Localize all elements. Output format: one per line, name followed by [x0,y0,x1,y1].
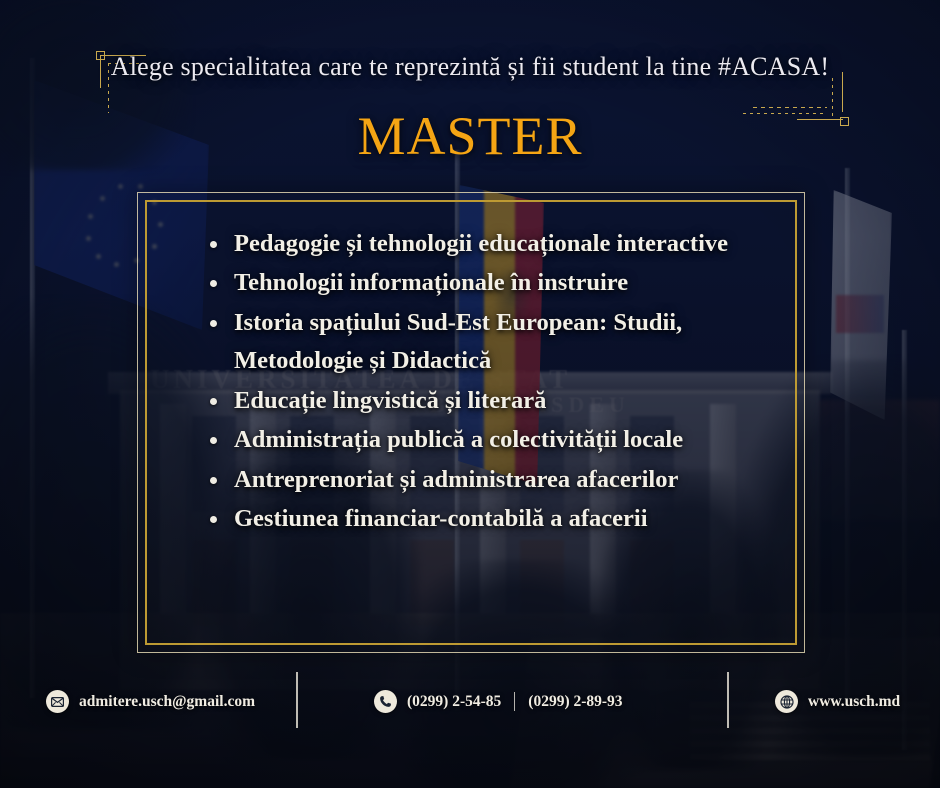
poster-content: Alege specialitatea care te reprezintă ș… [0,0,940,788]
globe-icon [775,690,798,713]
contact-phone[interactable]: (0299) 2-54-85 (0299) 2-89-93 [374,690,623,713]
phone-separator [514,692,515,711]
contact-website[interactable]: www.usch.md [775,690,900,713]
footer-contact-bar: admitere.usch@gmail.com (0299) 2-54-85 (… [0,676,940,736]
phone-number-2: (0299) 2-89-93 [528,693,622,711]
list-item: Educație lingvistică și literară [208,382,778,420]
list-item: Antreprenoriat și administrarea afaceril… [208,461,778,499]
footer-divider [727,672,729,728]
programs-list-wrapper: Pedagogie și tehnologii educaționale int… [208,225,778,632]
phone-number-1: (0299) 2-54-85 [407,693,501,711]
programs-frame: Pedagogie și tehnologii educaționale int… [137,192,805,653]
poster-canvas: UNIVERSITATEA DE STAT B. P. HASDEU [0,0,940,788]
contact-email[interactable]: admitere.usch@gmail.com [46,690,255,713]
list-item: Gestiunea financiar-contabilă a afacerii [208,500,778,538]
phone-icon [374,690,397,713]
list-item: Pedagogie și tehnologii educaționale int… [208,225,778,263]
envelope-icon [46,690,69,713]
email-text: admitere.usch@gmail.com [79,693,255,711]
website-text: www.usch.md [808,693,900,711]
footer-divider [296,672,298,728]
programs-list: Pedagogie și tehnologii educaționale int… [208,225,778,539]
list-item: Administrația publică a colectivității l… [208,421,778,459]
page-title: MASTER [0,105,940,167]
list-item: Istoria spațiului Sud-Est European: Stud… [208,304,778,381]
headline-text: Alege specialitatea care te reprezintă ș… [0,52,940,82]
list-item: Tehnologii informaționale în instruire [208,264,778,302]
